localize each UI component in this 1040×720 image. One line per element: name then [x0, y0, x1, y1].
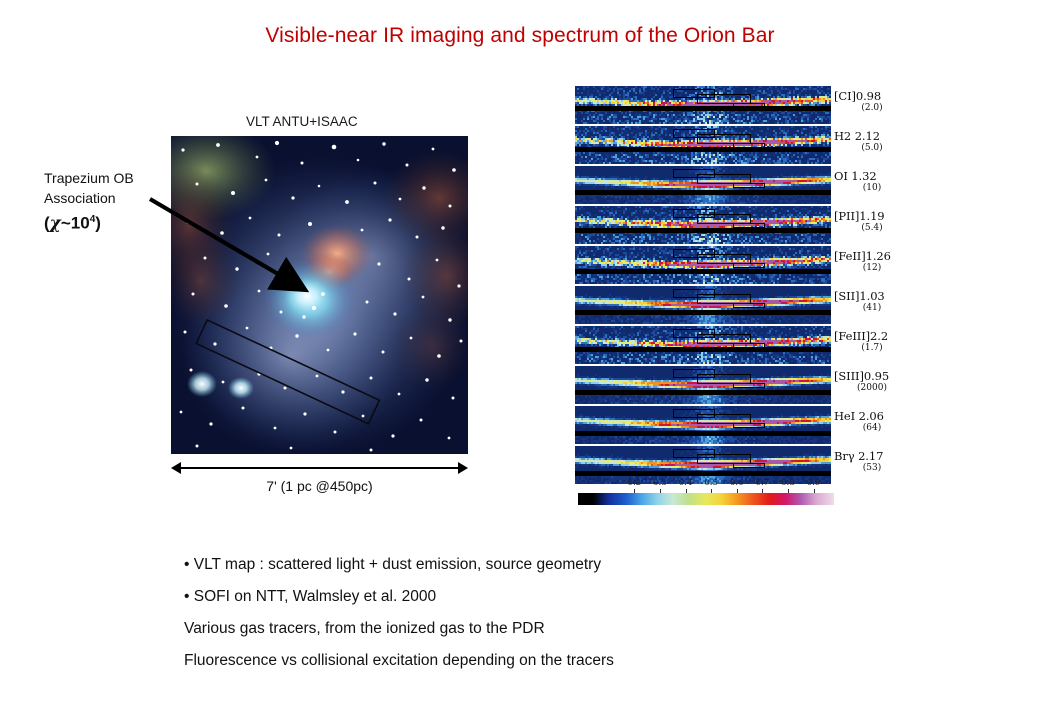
colorbar-tick-label: 0.5: [704, 478, 718, 488]
spectral-line-flux: (5.4): [834, 223, 910, 233]
spectral-strip-row: OI 1.32(10): [575, 166, 905, 206]
spectral-strip-row: [PII]1.19(5.4): [575, 206, 905, 246]
spectral-map-oi-1.32: [575, 166, 831, 204]
annotation-mid: ~10: [61, 214, 90, 233]
spectral-strip-row: [FeIII]2.2(1.7): [575, 326, 905, 366]
vlt-instrument-label: VLT ANTU+ISAAC: [246, 114, 358, 129]
slide-canvas: Visible-near IR imaging and spectrum of …: [0, 0, 1040, 720]
spectral-map-h2-2.12: [575, 126, 831, 164]
colorbar-gradient: [578, 493, 834, 505]
trapezium-annotation: Trapezium OB Association (χ~104): [44, 168, 184, 236]
detector-gap-bar: [575, 190, 831, 195]
detector-gap-bar: [575, 431, 831, 436]
spectral-line-label: HeI 2.06: [834, 409, 884, 423]
spectral-line-label: OI 1.32: [834, 169, 877, 183]
detector-gap-bar: [575, 147, 831, 152]
analysis-region-box-3: [733, 143, 765, 148]
spectral-map-siii-0.95: [575, 366, 831, 404]
spectral-line-label: H2 2.12: [834, 129, 880, 143]
scale-arrow-right: [458, 462, 468, 474]
analysis-region-box-3: [733, 303, 765, 308]
orion-nebula-image: [171, 136, 468, 454]
spectral-strip-row: HeI 2.06(64): [575, 406, 905, 446]
colorbar-tick-label: 0.3: [653, 478, 667, 488]
spectral-map-hei-2.06: [575, 406, 831, 444]
spectral-line-flux: (1.7): [834, 343, 910, 353]
page-title: Visible-near IR imaging and spectrum of …: [0, 24, 1040, 48]
spectral-map-feii-1.26: [575, 246, 831, 284]
colorbar: 0.20.30.40.50.60.70.80.9: [578, 487, 834, 505]
chi-symbol: χ: [50, 214, 61, 234]
detector-gap-bar: [575, 269, 831, 274]
analysis-region-box-3: [733, 183, 765, 188]
spectral-strip-row: [SIII]0.95(2000): [575, 366, 905, 406]
detector-gap-bar: [575, 471, 831, 476]
spectral-line-flux: (2.0): [834, 103, 910, 113]
spectral-line-flux: (5.0): [834, 143, 910, 153]
annotation-chi-value: (χ~104): [44, 208, 184, 236]
spectral-line-maps-panel: [CI]0.98(2.0)H2 2.12(5.0)OI 1.32(10)[PII…: [575, 86, 905, 486]
scale-bar-caption: 7' (1 pc @450pc): [171, 478, 468, 494]
spectral-line-label: [SII]1.03: [834, 289, 885, 303]
orion-nebula-render: [171, 136, 468, 454]
detector-gap-bar: [575, 106, 831, 111]
spectral-strip-row: [FeII]1.26(12): [575, 246, 905, 286]
analysis-region-box-3: [733, 383, 765, 388]
spectral-map-feiii-2.2: [575, 326, 831, 364]
bullet-line-3: Various gas tracers, from the ionized ga…: [184, 613, 884, 645]
spectral-line-flux: (41): [834, 303, 910, 313]
bullet-line-4: Fluorescence vs collisional excitation d…: [184, 645, 884, 677]
colorbar-tick-label: 0.2: [628, 478, 642, 488]
spectral-line-flux: (2000): [834, 383, 910, 393]
analysis-region-box-3: [733, 263, 765, 268]
colorbar-tick-label: 0.9: [807, 478, 821, 488]
colorbar-tick-label: 0.8: [781, 478, 795, 488]
spectral-line-flux: (53): [834, 463, 910, 473]
spectral-line-label: [PII]1.19: [834, 209, 885, 223]
spectral-line-label: [FeIII]2.2: [834, 329, 888, 343]
colorbar-tick-label: 0.6: [730, 478, 744, 488]
spectral-line-flux: (12): [834, 263, 910, 273]
colorbar-tick-label: 0.4: [679, 478, 693, 488]
spectral-map-sii-1.03: [575, 286, 831, 324]
bullet-line-1: • VLT map : scattered light + dust emiss…: [184, 549, 884, 581]
paren-close: ): [95, 214, 101, 233]
annotation-line-2: Association: [44, 188, 184, 208]
detector-gap-bar: [575, 390, 831, 395]
scale-bar-line: [179, 467, 460, 469]
analysis-region-box-3: [733, 463, 765, 468]
spectral-line-label: [CI]0.98: [834, 89, 881, 103]
colorbar-tick-label: 0.7: [756, 478, 770, 488]
spectral-strip-row: H2 2.12(5.0): [575, 126, 905, 166]
analysis-region-box-3: [733, 223, 765, 228]
detector-gap-bar: [575, 310, 831, 315]
spectral-map-ci-0.98: [575, 86, 831, 124]
spectral-map-pii-1.19: [575, 206, 831, 244]
analysis-region-box-3: [733, 103, 765, 108]
spectral-strip-row: [CI]0.98(2.0): [575, 86, 905, 126]
scale-bar: [171, 462, 468, 474]
annotation-line-1: Trapezium OB: [44, 168, 184, 188]
detector-gap-bar: [575, 228, 831, 233]
spectral-line-label: [SIII]0.95: [834, 369, 889, 383]
bullet-list: • VLT map : scattered light + dust emiss…: [184, 549, 884, 677]
analysis-region-box-3: [733, 343, 765, 348]
spectral-line-flux: (10): [834, 183, 910, 193]
spectral-line-label: Brγ 2.17: [834, 449, 883, 463]
detector-gap-bar: [575, 347, 831, 352]
analysis-region-box-3: [733, 423, 765, 428]
spectral-line-label: [FeII]1.26: [834, 249, 891, 263]
spectral-line-flux: (64): [834, 423, 910, 433]
spectral-strip-row: [SII]1.03(41): [575, 286, 905, 326]
bullet-line-2: • SOFI on NTT, Walmsley et al. 2000: [184, 581, 884, 613]
